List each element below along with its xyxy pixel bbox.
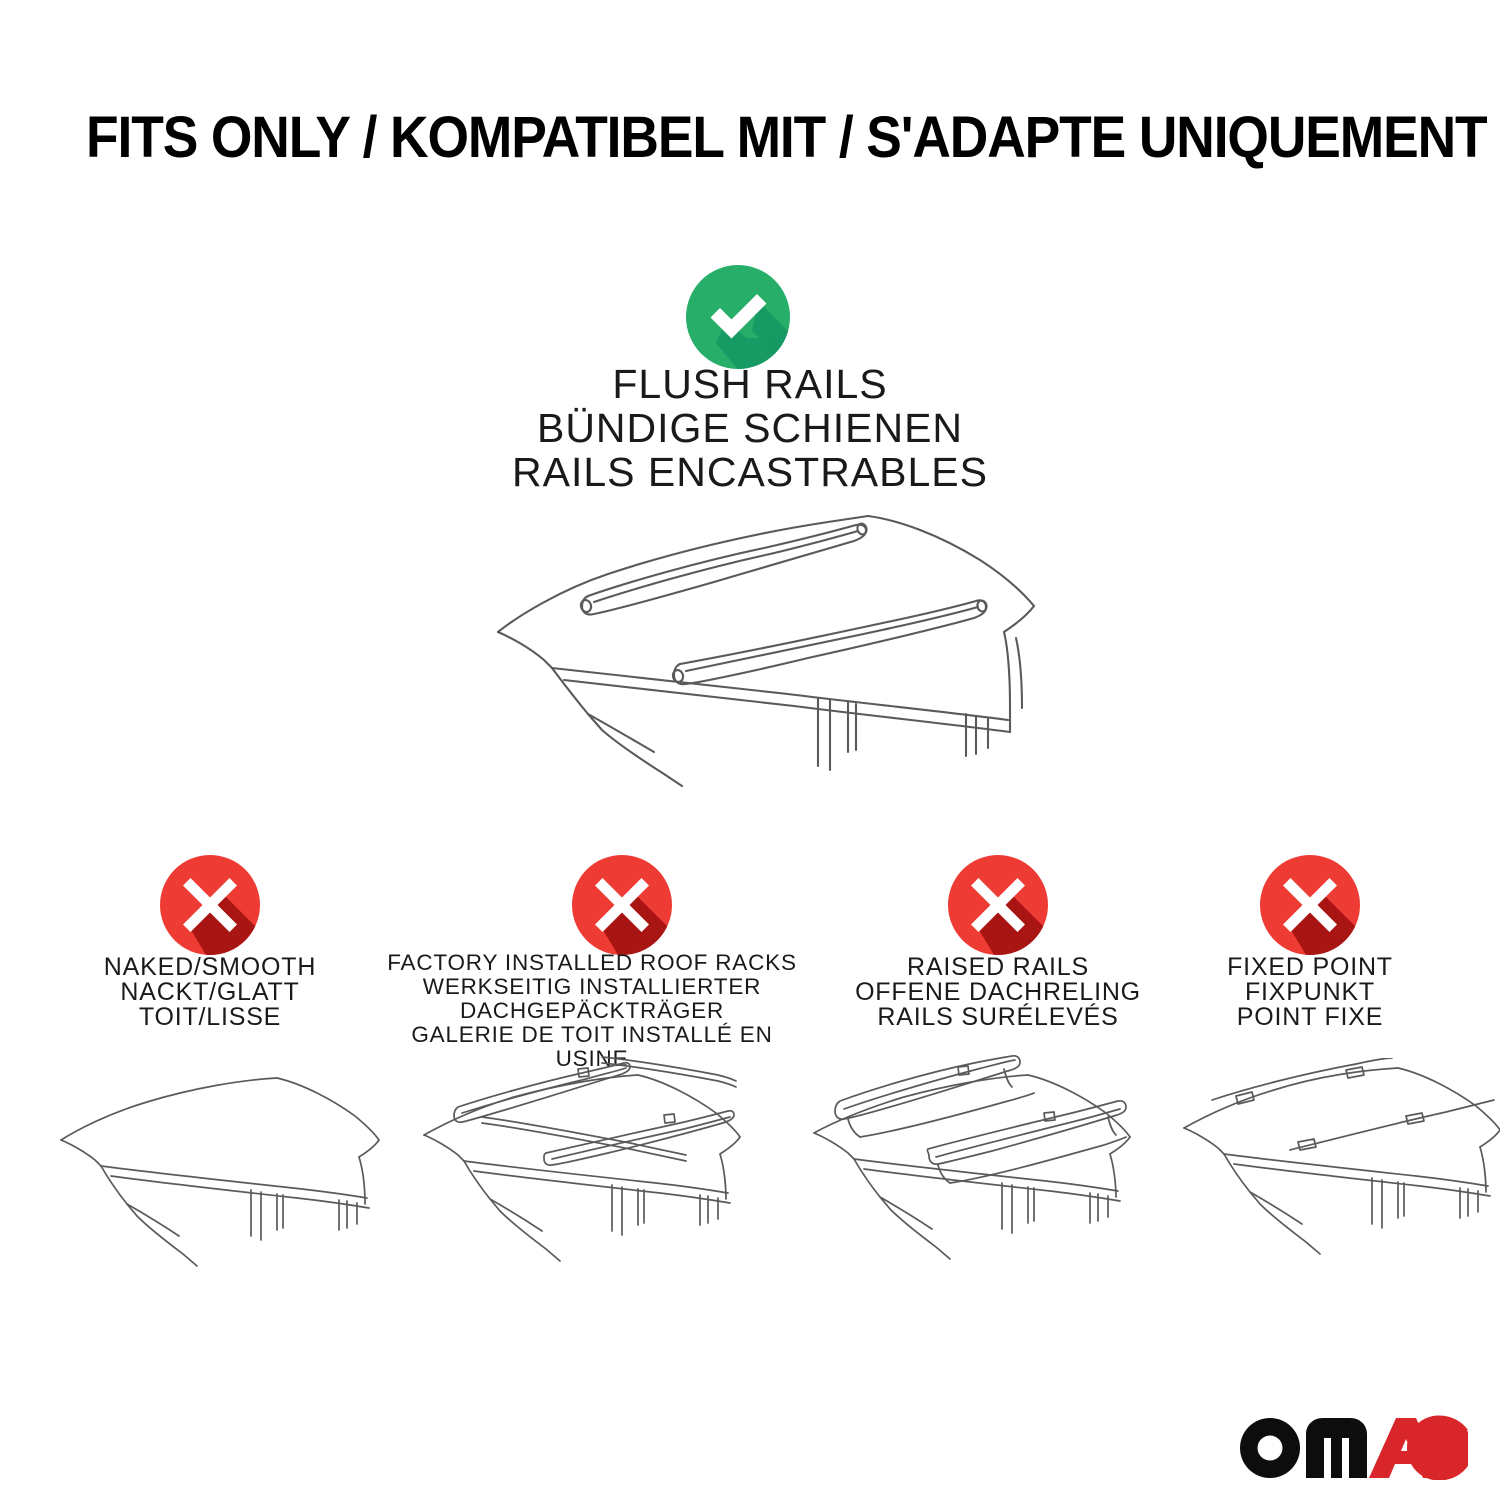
factory-roof-racks-label-de-2: DACHGEPÄCKTRÄGER [372,999,812,1023]
incompatible-item-raised-rails: RAISED RAILS OFFENE DACHRELING RAILS SUR… [818,855,1178,955]
flush-rails-label-group: FLUSH RAILS BÜNDIGE SCHIENEN RAILS ENCAS… [0,362,1500,494]
page-title: FITS ONLY / KOMPATIBEL MIT / S'ADAPTE UN… [86,108,1319,169]
incompatible-item-naked-smooth: NAKED/SMOOTH NACKT/GLATT TOIT/LISSE [30,855,390,955]
red-x-circle-icon [1260,855,1360,955]
incompatible-item-fixed-point: FIXED POINT FIXPUNKT POINT FIXE [1130,855,1490,955]
naked-smooth-label-en: NAKED/SMOOTH [30,955,390,980]
red-x-circle-icon [160,855,260,955]
compatibility-infographic: FITS ONLY / KOMPATIBEL MIT / S'ADAPTE UN… [0,0,1500,1500]
car-roof-naked-smooth-illustration [55,1058,385,1273]
car-roof-fixed-point-illustration [1178,1058,1500,1273]
naked-smooth-label-group: NAKED/SMOOTH NACKT/GLATT TOIT/LISSE [30,955,390,1030]
incompatible-item-factory-roof-racks: FACTORY INSTALLED ROOF RACKS WERKSEITIG … [412,855,772,955]
omac-logo [1238,1412,1470,1480]
flush-rails-label-en: FLUSH RAILS [0,362,1500,406]
green-check-circle-icon [686,265,790,369]
red-x-circle-icon [572,855,672,955]
factory-roof-racks-label-de-1: WERKSEITIG INSTALLIERTER [372,975,812,999]
flush-rails-label-fr: RAILS ENCASTRABLES [0,450,1500,494]
factory-roof-racks-label-en: FACTORY INSTALLED ROOF RACKS [372,951,812,975]
fixed-point-label-en: FIXED POINT [1130,955,1490,980]
fixed-point-label-de: FIXPUNKT [1130,980,1490,1005]
fixed-point-label-fr: POINT FIXE [1130,1005,1490,1030]
naked-smooth-label-de: NACKT/GLATT [30,980,390,1005]
flush-rails-label-de: BÜNDIGE SCHIENEN [0,406,1500,450]
fixed-point-label-group: FIXED POINT FIXPUNKT POINT FIXE [1130,955,1490,1030]
car-roof-factory-roof-racks-illustration [418,1055,748,1273]
red-x-circle-icon [948,855,1048,955]
factory-roof-racks-label-group: FACTORY INSTALLED ROOF RACKS WERKSEITIG … [372,951,812,1071]
car-roof-flush-rails-illustration [468,498,1044,794]
car-roof-raised-rails-illustration [808,1055,1138,1273]
naked-smooth-label-fr: TOIT/LISSE [30,1005,390,1030]
